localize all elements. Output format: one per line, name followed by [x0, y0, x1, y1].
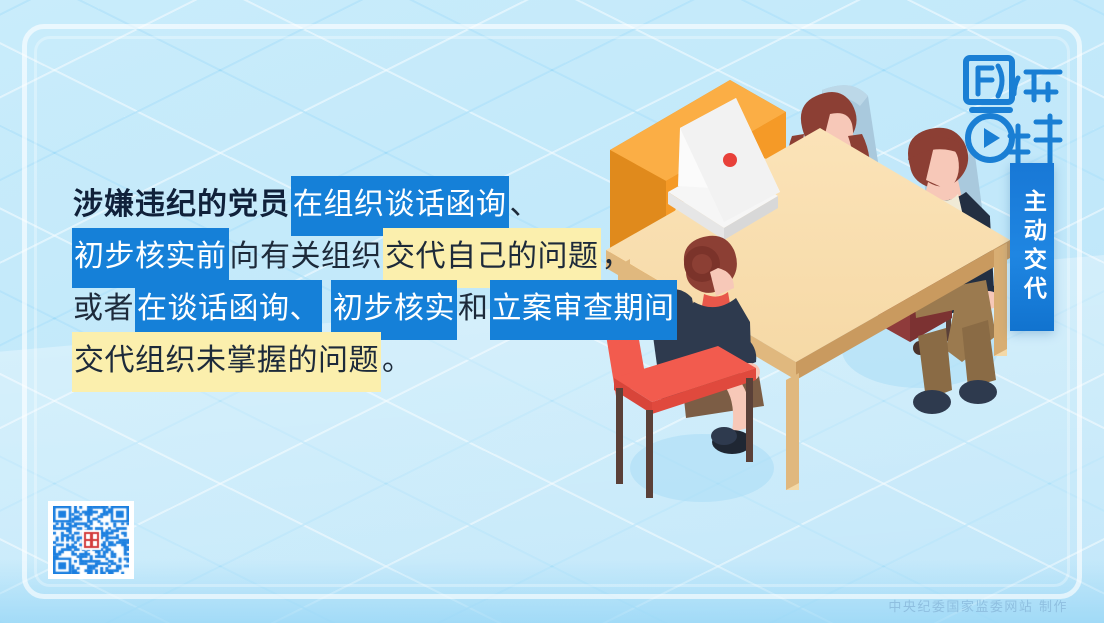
headline-segment: 初步核实前: [72, 228, 229, 288]
qr-code[interactable]: [48, 501, 134, 579]
vertical-banner: 主动交代: [1010, 163, 1054, 331]
headline-segment: ，: [601, 228, 634, 288]
headline-segment: 在谈话函询、: [135, 280, 322, 340]
headline-line: 或者在谈话函询、 初步核实和立案审查期间: [72, 280, 632, 332]
poster-canvas: 涉嫌违纪的党员在组织谈话函询、初步核实前向有关组织交代自己的问题，或者在谈话函询…: [0, 0, 1104, 623]
play-button-icon: [968, 110, 1012, 160]
footer-credit: 中央纪委国家监委网站 制作: [888, 596, 1068, 615]
headline-segment: 涉嫌违纪的党员: [72, 176, 291, 236]
headline-segment: 立案审查期间: [490, 280, 677, 340]
headline-segment: 在组织谈话函询: [291, 176, 509, 236]
headline-segment: 。: [381, 332, 414, 392]
headline-segment: 、: [509, 176, 542, 236]
logo-char-ke: [1010, 116, 1060, 168]
headline-segment: 或者: [72, 280, 135, 340]
headline-line: 涉嫌违纪的党员在组织谈话函询、: [72, 176, 632, 228]
headline-segment: 和: [457, 280, 490, 340]
headline-line: 初步核实前向有关组织交代自己的问题，: [72, 228, 632, 280]
headline-segment: 交代组织未掌握的问题: [72, 332, 381, 392]
site-logo[interactable]: [962, 52, 1064, 176]
logo-char-fa: [1014, 72, 1060, 100]
headline-segment: 初步核实: [331, 280, 457, 340]
headline-segment: 交代自己的问题: [383, 228, 601, 288]
headline-segment: [322, 310, 331, 318]
vertical-banner-label: 主动交代: [1018, 189, 1047, 305]
headline-text-block: 涉嫌违纪的党员在组织谈话函询、初步核实前向有关组织交代自己的问题，或者在谈话函询…: [72, 176, 632, 384]
headline-segment: 向有关组织: [229, 228, 384, 288]
